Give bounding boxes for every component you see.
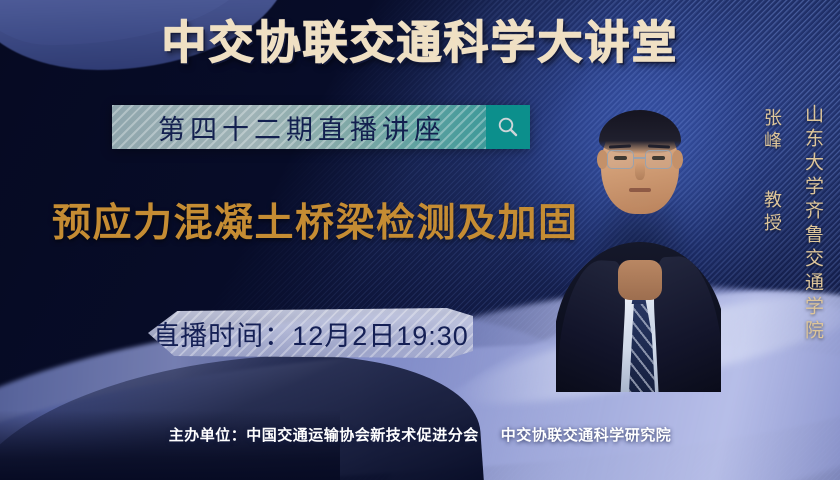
speaker-affiliation: 山东大学齐鲁交通学院 [799,104,826,344]
livestream-poster: 中交协联交通科学大讲堂 第四十二期直播讲座 预应力混凝土桥梁检测及加固 直播时间… [0,0,840,480]
search-icon [496,115,520,139]
broadcast-time-badge: 直播时间：12月2日19:30 [148,308,473,358]
portrait-glasses-right-lens [645,150,672,169]
episode-banner: 第四十二期直播讲座 [112,105,530,149]
episode-banner-fill: 第四十二期直播讲座 [112,105,486,149]
portrait-chin [618,196,662,212]
footer-organizer-1: 中国交通运输协会新技术促进分会 [246,427,479,444]
portrait-glasses-bridge [634,157,645,159]
speaker-name: 张峰 [759,108,785,154]
decorative-dark-bottom-fade [0,410,340,480]
speaker-role: 教授 [759,190,785,236]
page-title: 中交协联交通科学大讲堂 [0,18,840,68]
episode-label: 第四十二期直播讲座 [152,108,446,147]
portrait-neck [618,260,662,300]
footer-organizer-label: 主办单位： [169,427,247,444]
footer-organizer-2: 中交协联交通科学研究院 [501,427,672,444]
portrait-ear-right [672,150,683,169]
search-button[interactable] [486,105,530,149]
speaker-portrait [556,100,721,392]
portrait-mouth [629,188,651,192]
portrait-nose [635,162,645,180]
portrait-glasses-left-lens [607,150,634,169]
footer-organizers: 主办单位：中国交通运输协会新技术促进分会中交协联交通科学研究院 [0,424,840,445]
broadcast-time-text: 直播时间：12月2日19:30 [152,314,469,353]
lecture-title: 预应力混凝土桥梁检测及加固 [52,192,579,248]
